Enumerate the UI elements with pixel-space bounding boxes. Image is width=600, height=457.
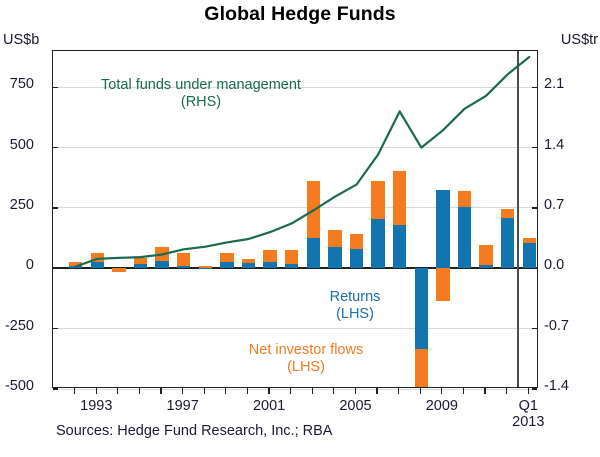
x-axis-tick-mark [74, 388, 75, 394]
left-axis-unit-label: US$b [3, 32, 39, 48]
x-axis-tick-label: 2009 [426, 398, 458, 414]
x-axis-tick-mark [312, 388, 313, 394]
x-axis-tick-mark [420, 388, 421, 394]
x-axis-tick-mark [463, 388, 464, 394]
chart-figure: Global Hedge Funds US$b US$tr Total fund… [0, 0, 600, 457]
x-axis-tick-label: 2005 [339, 398, 371, 414]
x-axis-tick-label: 2001 [253, 398, 285, 414]
y-axis-right-tick-label: -1.4 [544, 378, 569, 394]
y-axis-right-tick-label: 0.0 [544, 257, 564, 273]
x-axis-tick-mark [484, 388, 485, 394]
x-axis-tick-mark [160, 388, 161, 394]
x-axis-tick-label: 1997 [167, 398, 199, 414]
y-axis-left-tick-label: 0 [26, 257, 34, 273]
x-axis-tick-mark [96, 388, 97, 394]
x-axis-tick-mark [182, 388, 183, 394]
y-axis-left-tick-label: 500 [10, 137, 34, 153]
x-axis-tick-mark [376, 388, 377, 394]
y-axis-left-tick-label: 750 [10, 76, 34, 92]
y-axis-left-tick-label: -250 [5, 318, 34, 334]
x-axis-tick-mark [290, 388, 291, 394]
x-axis-ticks [52, 388, 538, 396]
y-axis-right-tick-label: -0.7 [544, 318, 569, 334]
annotation-net-investor-flows: Net investor flows (LHS) [228, 342, 384, 376]
y-axis-left-tick-label: -500 [5, 378, 34, 394]
x-axis-tick-mark [398, 388, 399, 394]
x-axis-tick-mark [225, 388, 226, 394]
x-axis-tick-mark [204, 388, 205, 394]
x-axis-tick-label: 1993 [80, 398, 112, 414]
annotation-returns: Returns (LHS) [293, 289, 417, 323]
y-axis-right-tick-label: 2.1 [544, 76, 564, 92]
y-axis-right-tick-label: 0.7 [544, 197, 564, 213]
x-axis-tick-mark [268, 388, 269, 394]
x-axis-tick-mark [117, 388, 118, 394]
right-axis-unit-label: US$tr [561, 32, 598, 48]
y-axis-right-tick-label: 1.4 [544, 137, 564, 153]
x-axis-tick-mark [441, 388, 442, 394]
x-axis-tick-mark [247, 388, 248, 394]
y-axis-left-tick-label: 250 [10, 197, 34, 213]
page-title: Global Hedge Funds [0, 3, 600, 26]
x-axis-tick-mark [506, 388, 507, 394]
x-axis-tick-mark [333, 388, 334, 394]
x-axis-tick-mark [528, 388, 529, 394]
sources-note: Sources: Hedge Fund Research, Inc.; RBA [56, 423, 332, 439]
x-axis-tick-label: Q1 2013 [512, 398, 544, 430]
annotation-total-funds-under-management: Total funds under management (RHS) [96, 77, 306, 111]
x-axis-tick-mark [355, 388, 356, 394]
x-axis-tick-mark [139, 388, 140, 394]
